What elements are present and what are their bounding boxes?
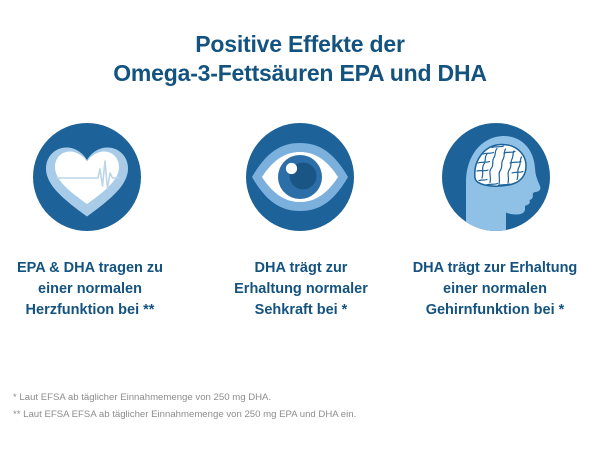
benefit-caption-brain: DHA trägt zur Erhaltung einer normalen G… [392, 258, 598, 321]
caption-line: Erhaltung normaler [208, 279, 394, 300]
caption-line: einer normalen [392, 279, 598, 300]
caption-line: DHA trägt zur Erhaltung [392, 258, 598, 279]
caption-line: einer normalen [0, 279, 180, 300]
title-line-1: Positive Effekte der [0, 30, 600, 58]
caption-line: Herzfunktion bei ** [0, 300, 180, 321]
benefit-caption-heart: EPA & DHA tragen zu einer normalen Herzf… [0, 258, 180, 321]
icon-row [0, 123, 600, 235]
eye-icon [246, 123, 354, 231]
infographic-root: Positive Effekte der Omega-3-Fettsäuren … [0, 0, 600, 450]
caption-line: EPA & DHA tragen zu [0, 258, 180, 279]
caption-line: Sehkraft bei * [208, 300, 394, 321]
benefit-icon-eye [246, 123, 354, 231]
benefit-caption-eye: DHA trägt zur Erhaltung normaler Sehkraf… [208, 258, 394, 321]
title-line-2: Omega-3-Fettsäuren EPA und DHA [0, 58, 600, 88]
caption-line: Gehirnfunktion bei * [392, 300, 598, 321]
caption-line: DHA trägt zur [208, 258, 394, 279]
footnote-double-asterisk: ** Laut EFSA EFSA ab täglicher Einnahmem… [13, 406, 588, 423]
head-brain-icon [442, 123, 550, 231]
benefit-icon-heart [33, 123, 141, 231]
heart-ecg-icon [33, 123, 141, 231]
page-title: Positive Effekte der Omega-3-Fettsäuren … [0, 30, 600, 88]
footnote-single-asterisk: * Laut EFSA ab täglicher Einnahmemenge v… [13, 389, 588, 406]
caption-row: EPA & DHA tragen zu einer normalen Herzf… [0, 258, 600, 330]
benefit-icon-brain [442, 123, 550, 231]
footnotes: * Laut EFSA ab täglicher Einnahmemenge v… [13, 389, 588, 423]
